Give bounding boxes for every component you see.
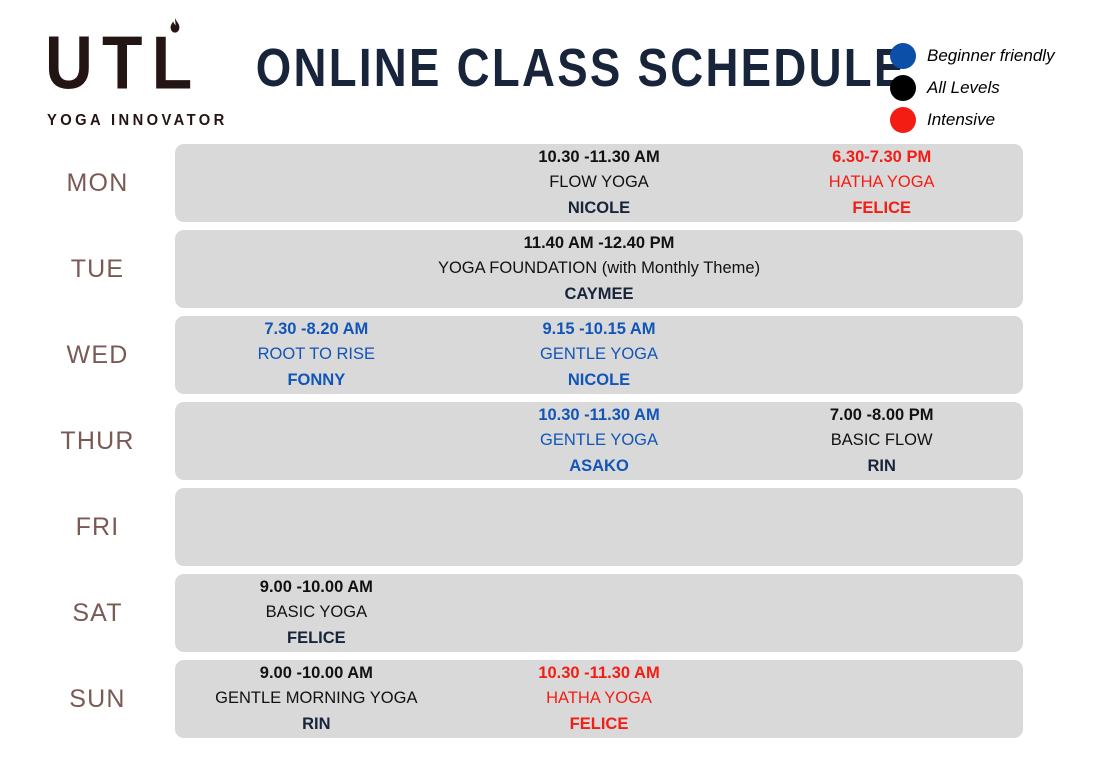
legend-label-intensive: Intensive: [927, 110, 995, 130]
flame-icon: [167, 18, 183, 40]
brand-logo: UTL YOGA INNOVATOR: [45, 20, 220, 135]
schedule-row: MON10.30 -11.30 AMFLOW YOGANICOLE6.30-7.…: [0, 144, 1100, 222]
class-name: GENTLE MORNING YOGA: [215, 686, 417, 712]
class-instructor: NICOLE: [568, 196, 630, 222]
class-instructor: ASAKO: [569, 454, 629, 480]
class-instructor: FELICE: [852, 196, 911, 222]
day-label-mon: MON: [35, 144, 160, 222]
class-slot[interactable]: 10.30 -11.30 AMHATHA YOGAFELICE: [458, 660, 741, 738]
schedule-row: TUE11.40 AM -12.40 PMYOGA FOUNDATION (wi…: [0, 230, 1100, 308]
legend-item-all-levels: All Levels: [890, 72, 1095, 104]
class-name: GENTLE YOGA: [540, 342, 658, 368]
legend: Beginner friendly All Levels Intensive: [890, 40, 1095, 136]
class-slot[interactable]: 6.30-7.30 PMHATHA YOGAFELICE: [740, 144, 1023, 222]
class-instructor: NICOLE: [568, 368, 630, 394]
class-name: YOGA FOUNDATION (with Monthly Theme): [438, 256, 760, 282]
legend-item-intensive: Intensive: [890, 104, 1095, 136]
schedule-header: UTL YOGA INNOVATOR ONLINE CLASS SCHEDULE…: [0, 0, 1100, 140]
schedule-row: SUN9.00 -10.00 AMGENTLE MORNING YOGARIN1…: [0, 660, 1100, 738]
class-slot[interactable]: 7.30 -8.20 AMROOT TO RISEFONNY: [175, 316, 458, 394]
class-name: HATHA YOGA: [829, 170, 935, 196]
class-instructor: CAYMEE: [564, 282, 633, 308]
day-label-wed: WED: [35, 316, 160, 394]
logo-mark: UTL: [45, 20, 220, 102]
class-instructor: FELICE: [570, 712, 629, 738]
class-name: FLOW YOGA: [549, 170, 649, 196]
day-band: 9.00 -10.00 AMBASIC YOGAFELICE: [175, 574, 1023, 652]
class-instructor: FONNY: [287, 368, 345, 394]
day-band: 10.30 -11.30 AMGENTLE YOGAASAKO7.00 -8.0…: [175, 402, 1023, 480]
class-time: 7.00 -8.00 PM: [830, 403, 934, 429]
class-slot[interactable]: 11.40 AM -12.40 PMYOGA FOUNDATION (with …: [175, 230, 1023, 308]
class-time: 10.30 -11.30 AM: [538, 145, 659, 171]
day-label-sun: SUN: [35, 660, 160, 738]
day-band: [175, 488, 1023, 566]
class-instructor: RIN: [302, 712, 330, 738]
class-name: GENTLE YOGA: [540, 428, 658, 454]
class-time: 6.30-7.30 PM: [832, 145, 931, 171]
legend-dot-intensive-icon: [890, 107, 916, 133]
class-instructor: RIN: [867, 454, 895, 480]
day-label-thur: THUR: [35, 402, 160, 480]
day-band: 10.30 -11.30 AMFLOW YOGANICOLE6.30-7.30 …: [175, 144, 1023, 222]
legend-dot-beginner-icon: [890, 43, 916, 69]
class-name: BASIC YOGA: [266, 600, 367, 626]
day-band: 11.40 AM -12.40 PMYOGA FOUNDATION (with …: [175, 230, 1023, 308]
class-slot[interactable]: 9.15 -10.15 AMGENTLE YOGANICOLE: [458, 316, 741, 394]
class-time: 9.00 -10.00 AM: [260, 661, 373, 687]
class-slot[interactable]: 10.30 -11.30 AMFLOW YOGANICOLE: [458, 144, 741, 222]
day-label-tue: TUE: [35, 230, 160, 308]
class-time: 10.30 -11.30 AM: [538, 661, 659, 687]
class-time: 7.30 -8.20 AM: [264, 317, 368, 343]
schedule-grid: MON10.30 -11.30 AMFLOW YOGANICOLE6.30-7.…: [0, 144, 1100, 746]
class-slot[interactable]: 9.00 -10.00 AMGENTLE MORNING YOGARIN: [175, 660, 458, 738]
class-schedule-page: UTL YOGA INNOVATOR ONLINE CLASS SCHEDULE…: [0, 0, 1100, 778]
class-slot[interactable]: 9.00 -10.00 AMBASIC YOGAFELICE: [175, 574, 458, 652]
legend-label-beginner: Beginner friendly: [927, 46, 1055, 66]
legend-item-beginner: Beginner friendly: [890, 40, 1095, 72]
schedule-row: THUR10.30 -11.30 AMGENTLE YOGAASAKO7.00 …: [0, 402, 1100, 480]
day-label-sat: SAT: [35, 574, 160, 652]
day-band: 9.00 -10.00 AMGENTLE MORNING YOGARIN10.3…: [175, 660, 1023, 738]
class-slot[interactable]: 7.00 -8.00 PMBASIC FLOWRIN: [740, 402, 1023, 480]
class-time: 9.15 -10.15 AM: [542, 317, 655, 343]
class-instructor: FELICE: [287, 626, 346, 652]
schedule-row: WED7.30 -8.20 AMROOT TO RISEFONNY9.15 -1…: [0, 316, 1100, 394]
class-time: 11.40 AM -12.40 PM: [524, 231, 675, 257]
schedule-row: SAT9.00 -10.00 AMBASIC YOGAFELICE: [0, 574, 1100, 652]
class-time: 9.00 -10.00 AM: [260, 575, 373, 601]
class-slot[interactable]: 10.30 -11.30 AMGENTLE YOGAASAKO: [458, 402, 741, 480]
legend-label-all-levels: All Levels: [927, 78, 1000, 98]
logo-tagline: YOGA INNOVATOR: [47, 112, 228, 130]
legend-dot-all-levels-icon: [890, 75, 916, 101]
class-name: ROOT TO RISE: [258, 342, 375, 368]
class-name: HATHA YOGA: [546, 686, 652, 712]
class-name: BASIC FLOW: [831, 428, 933, 454]
day-label-fri: FRI: [35, 488, 160, 566]
schedule-row: FRI: [0, 488, 1100, 566]
class-time: 10.30 -11.30 AM: [538, 403, 659, 429]
day-band: 7.30 -8.20 AMROOT TO RISEFONNY9.15 -10.1…: [175, 316, 1023, 394]
page-title: ONLINE CLASS SCHEDULE: [256, 38, 855, 100]
